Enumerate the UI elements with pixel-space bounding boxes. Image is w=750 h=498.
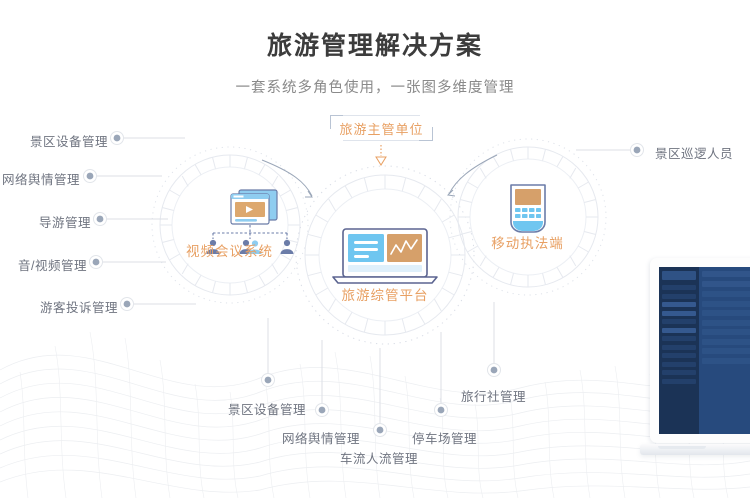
spoke-label-left-5: 游客投诉管理 (18, 297, 118, 316)
node-label-mobile-enforcement: 移动执法端 (455, 232, 600, 252)
content-row (702, 348, 750, 354)
sidebar-item (662, 319, 696, 324)
spoke-dot (374, 424, 387, 437)
laptop-lid (650, 258, 750, 443)
laptop-trackpad-notch (658, 446, 706, 449)
sidebar-item (662, 336, 696, 341)
spoke-dot (111, 132, 124, 145)
spoke-label-left-4: 音/视频管理 (0, 255, 87, 274)
content-toolbar (702, 271, 750, 277)
sidebar-item (662, 294, 696, 299)
spoke-dot (121, 298, 134, 311)
spoke-label-left-3: 导游管理 (0, 212, 91, 231)
box-edge-bottom (343, 140, 420, 141)
content-row (702, 301, 750, 307)
connector-arc-mobile-to-center (448, 155, 497, 196)
content-row (702, 329, 750, 335)
spoke-label-left-1: 景区设备管理 (8, 131, 108, 150)
spoke-lines-left (97, 138, 196, 304)
handheld-device-icon (511, 185, 545, 232)
spoke-label-bottom-1: 景区设备管理 (228, 399, 306, 418)
laptop-screen (659, 267, 750, 434)
spoke-dot (316, 404, 329, 417)
content-row (702, 291, 750, 297)
spoke-label-bottom-5: 旅行社管理 (461, 386, 526, 405)
spoke-label-bottom-4: 停车场管理 (412, 428, 477, 447)
authority-unit-box: 旅游主管单位 (330, 115, 433, 141)
spoke-dot (84, 170, 97, 183)
spoke-label-bottom-3: 车流人流管理 (340, 448, 418, 467)
sidebar-item (662, 362, 696, 367)
content-row (702, 358, 750, 364)
laptop-chart-icon (333, 229, 437, 283)
spoke-dot (90, 256, 103, 269)
node-label-video-conference: 视频会议系统 (157, 240, 302, 260)
sidebar-item (662, 379, 696, 384)
sidebar-item (662, 328, 696, 333)
spoke-dots-left (84, 132, 134, 311)
spoke-dot (488, 364, 501, 377)
content-row (702, 320, 750, 326)
spoke-label-right-1: 景区巡逻人员 (655, 143, 733, 162)
sidebar-item (662, 345, 696, 350)
spoke-label-bottom-2: 网络舆情管理 (282, 428, 360, 447)
spoke-dot (631, 144, 644, 157)
spoke-dot (435, 404, 448, 417)
content-row (702, 339, 750, 345)
dashboard-laptop-mockup (640, 258, 750, 498)
spoke-label-left-2: 网络舆情管理 (0, 169, 80, 188)
sidebar-item (662, 285, 696, 290)
sidebar-item (662, 353, 696, 358)
dashboard-sidebar (659, 267, 699, 434)
content-row (702, 310, 750, 316)
box-edge-top (343, 115, 420, 116)
node-label-central-platform: 旅游综管平台 (300, 284, 470, 304)
dashboard-content (699, 267, 750, 434)
solution-architecture-diagram (0, 0, 750, 498)
dashboard-logo (662, 271, 696, 280)
sidebar-item (662, 311, 696, 316)
sidebar-item (662, 302, 696, 307)
arrow-down-icon (376, 145, 386, 165)
sidebar-item (662, 370, 696, 375)
authority-unit-label: 旅游主管单位 (339, 119, 423, 138)
spoke-dot (262, 374, 275, 387)
content-filter-bar (702, 281, 750, 287)
spoke-dot (94, 213, 107, 226)
